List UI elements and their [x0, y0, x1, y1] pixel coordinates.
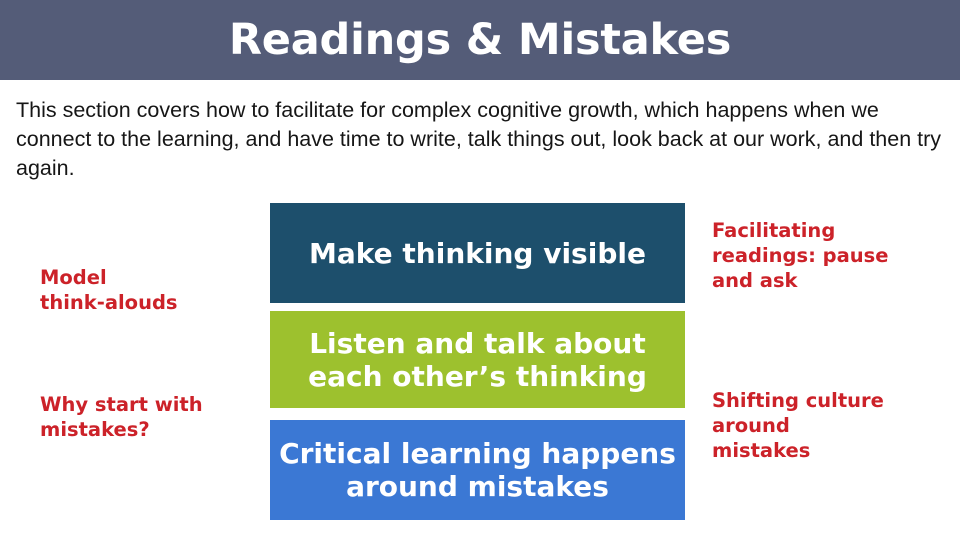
callout-model-think-alouds: Model think-alouds: [40, 265, 255, 315]
concept-box-label: Listen and talk about each other’s think…: [308, 327, 647, 393]
concept-box-make-thinking-visible: Make thinking visible: [270, 203, 685, 303]
page-title: Readings & Mistakes: [229, 19, 731, 62]
callout-why-start-with-mistakes: Why start with mistakes?: [40, 392, 255, 442]
callout-shifting-culture: Shifting culture around mistakes: [712, 388, 937, 463]
concept-box-listen-and-talk: Listen and talk about each other’s think…: [270, 311, 685, 408]
concept-box-label: Make thinking visible: [309, 237, 646, 270]
slide-title-bar: Readings & Mistakes: [0, 0, 960, 80]
intro-paragraph: This section covers how to facilitate fo…: [16, 96, 941, 183]
callout-facilitating-readings: Facilitating readings: pause and ask: [712, 218, 937, 293]
concept-box-critical-learning: Critical learning happens around mistake…: [270, 420, 685, 520]
concept-box-label: Critical learning happens around mistake…: [279, 437, 676, 503]
